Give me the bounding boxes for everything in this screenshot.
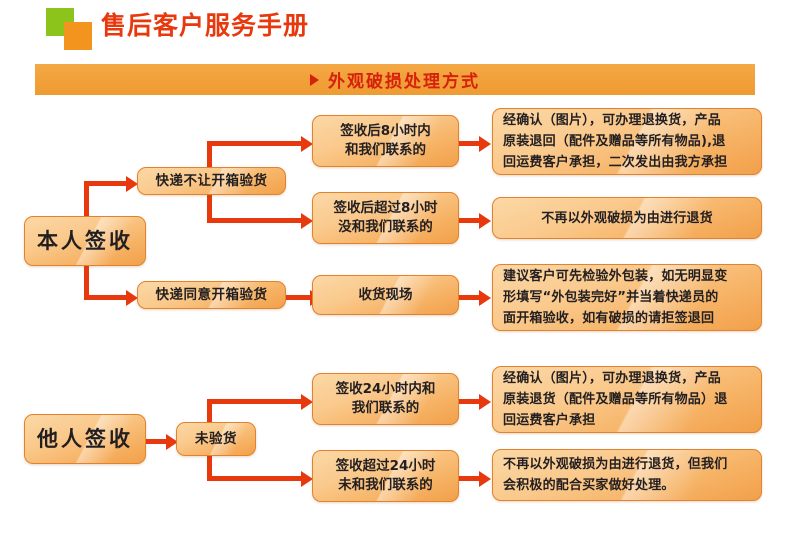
- logo-orange-square-icon: [64, 22, 92, 50]
- connector-s1-b1-to-case2: [207, 218, 303, 223]
- connector-s2-b1-to-case1: [207, 399, 303, 404]
- node-result-no-return-appearance[interactable]: 不再以外观破损为由进行退货: [492, 197, 762, 239]
- node-label: 签收超过24小时 未和我们联系的: [330, 457, 442, 495]
- connector-s1-root-to-b1: [84, 181, 128, 186]
- node-label: 建议客户可先检验外包装，如无明显变 形填写“外包装完好”并当着快递员的 面开箱验…: [493, 266, 737, 329]
- node-label: 收货现场: [353, 286, 419, 305]
- node-label: 未验货: [189, 430, 243, 449]
- node-label: 经确认（图片），可办理退换货，产品 原装退回（配件及赠品等所有物品),退 回运费…: [493, 110, 737, 173]
- node-label: 不再以外观破损为由进行退货，但我们 会积极的配合买家做好处理。: [493, 454, 737, 496]
- arrow-s1-case1-to-result: [479, 136, 491, 152]
- node-case-over-8h[interactable]: 签收后超过8小时 没和我们联系的: [312, 192, 459, 244]
- page-title: 售后客户服务手册: [101, 10, 309, 42]
- connector-s1-case2-to-result: [459, 218, 481, 223]
- connector-s1-case3-to-result: [459, 295, 481, 300]
- flowchart-page: 售后客户服务手册 外观破损处理方式 本人签收 快递不让开箱验货 快递同意开箱验货…: [0, 0, 790, 552]
- section-banner: 外观破损处理方式: [35, 64, 755, 95]
- node-label: 签收后8小时内 和我们联系的: [334, 122, 436, 160]
- node-case-delivery-scene[interactable]: 收货现场: [312, 275, 459, 315]
- node-label: 经确认（图片），可办理退换货，产品 原装退货（配件及赠品等所有物品）退 回运费客…: [493, 368, 737, 431]
- node-label: 不再以外观破损为由进行退货: [493, 208, 761, 229]
- connector-s2-b1-to-case2: [207, 476, 303, 481]
- node-label: 他人签收: [31, 430, 139, 449]
- node-other-signed-root[interactable]: 他人签收: [24, 414, 146, 464]
- node-result-inspect-advice[interactable]: 建议客户可先检验外包装，如无明显变 形填写“外包装完好”并当着快递员的 面开箱验…: [492, 264, 762, 331]
- connector-s1-case1-to-result: [459, 141, 481, 146]
- right-triangle-icon: [310, 74, 319, 86]
- node-result-no-return-but-assist[interactable]: 不再以外观破损为由进行退货，但我们 会积极的配合买家做好处理。: [492, 449, 762, 501]
- node-label: 签收24小时内和 我们联系的: [330, 380, 442, 418]
- node-result-exchange-return-policy[interactable]: 经确认（图片），可办理退换货，产品 原装退回（配件及赠品等所有物品),退 回运费…: [492, 108, 762, 175]
- connector-s2-case1-to-result: [459, 399, 481, 404]
- node-courier-allow-inspection[interactable]: 快递同意开箱验货: [137, 281, 286, 309]
- connector-s1-b2-to-case1: [286, 295, 312, 300]
- node-self-signed-root[interactable]: 本人签收: [24, 216, 146, 266]
- node-case-within-8h[interactable]: 签收后8小时内 和我们联系的: [312, 115, 459, 167]
- connector-s2-case2-to-result: [459, 476, 481, 481]
- node-label: 快递不让开箱验货: [150, 172, 274, 191]
- node-not-inspected[interactable]: 未验货: [176, 422, 256, 456]
- arrow-s2-case1-to-result: [479, 394, 491, 410]
- node-label: 快递同意开箱验货: [150, 286, 274, 305]
- node-result-exchange-return-policy-24h[interactable]: 经确认（图片），可办理退换货，产品 原装退货（配件及赠品等所有物品）退 回运费客…: [492, 366, 762, 433]
- section-banner-title: 外观破损处理方式: [328, 67, 480, 92]
- arrow-s1-case2-to-result: [479, 213, 491, 229]
- brand-logo: [46, 8, 100, 50]
- node-label: 本人签收: [31, 232, 139, 251]
- node-label: 签收后超过8小时 没和我们联系的: [328, 199, 444, 237]
- node-courier-refuse-inspection[interactable]: 快递不让开箱验货: [137, 167, 286, 195]
- node-case-within-24h[interactable]: 签收24小时内和 我们联系的: [312, 373, 459, 425]
- node-case-over-24h[interactable]: 签收超过24小时 未和我们联系的: [312, 450, 459, 502]
- arrow-s1-case3-to-result: [479, 290, 491, 306]
- arrow-s2-case2-to-result: [479, 471, 491, 487]
- connector-s1-b1-to-case1: [207, 141, 303, 146]
- connector-s1-root-to-b2: [84, 295, 128, 300]
